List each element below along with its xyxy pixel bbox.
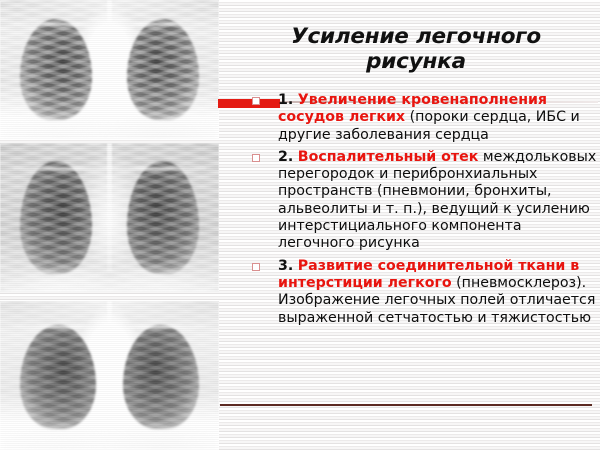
chest-xray-image-1: [0, 0, 219, 139]
film-grain: [0, 143, 219, 292]
bottom-divider-rule: [220, 404, 592, 406]
presentation-slide: Усиление легочного рисунка 1. Увеличение…: [0, 0, 600, 450]
square-bullet-icon: [252, 263, 260, 271]
chest-xray-image-2: [0, 143, 219, 292]
radiograph-canvas-2: [0, 143, 219, 292]
slide-title: Усиление легочного рисунка: [240, 24, 592, 74]
bullet-number: 2.: [278, 149, 293, 165]
list-item: 2. Воспалительный отек междольковых пере…: [242, 149, 598, 253]
list-item: 3. Развитие соединительной ткани в интер…: [242, 258, 598, 327]
bullet-number: 1.: [278, 92, 293, 108]
slide-content-panel: Усиление легочного рисунка 1. Увеличение…: [228, 0, 600, 450]
radiograph-canvas-1: [0, 0, 219, 139]
radiograph-canvas-3: [0, 301, 219, 450]
bullet-list: 1. Увеличение кровенаполнения сосудов ле…: [242, 92, 598, 332]
square-bullet-icon: [252, 154, 260, 162]
square-bullet-icon: [252, 97, 260, 105]
bullet-highlight: Воспалительный отек: [298, 149, 479, 165]
list-item: 1. Увеличение кровенаполнения сосудов ле…: [242, 92, 598, 144]
chest-xray-image-3: [0, 301, 219, 450]
film-grain: [0, 0, 219, 139]
bullet-number: 3.: [278, 258, 293, 274]
film-grain: [0, 301, 219, 450]
